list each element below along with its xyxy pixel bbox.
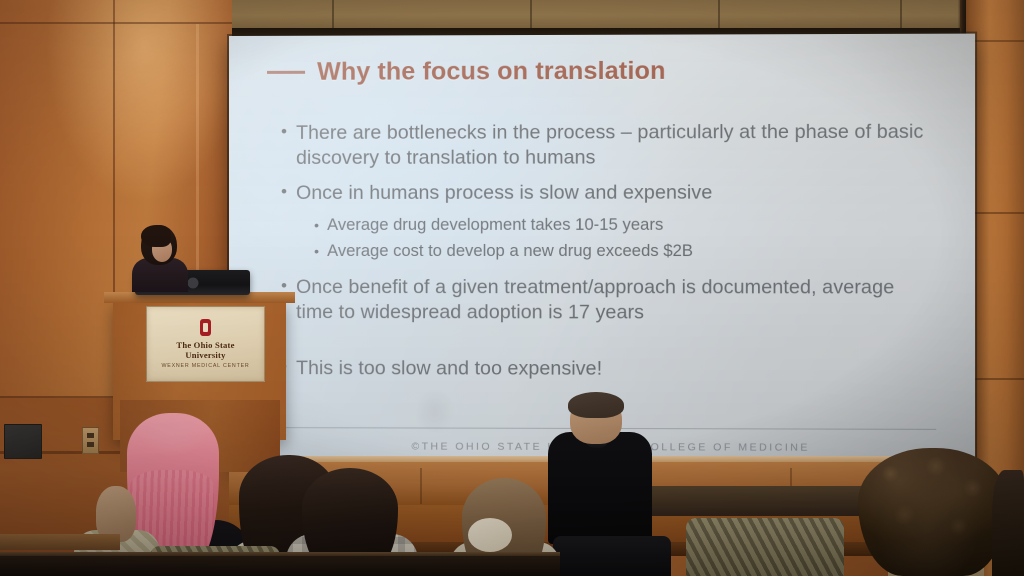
podium-sign-line2: University — [185, 350, 225, 360]
bullet-level1: • There are bottlenecks in the process –… — [281, 120, 934, 172]
dell-logo-icon — [187, 277, 198, 288]
lecture-hall-photo: Why the focus on translation • There are… — [0, 0, 1024, 576]
slide-title-row: Why the focus on translation — [267, 57, 666, 87]
left-tabletop — [0, 534, 120, 550]
bullet-dot-icon: • — [281, 121, 296, 172]
audience-black-polo-hair — [568, 392, 624, 418]
wall-speaker-panel — [4, 424, 42, 459]
stage-seam — [420, 468, 422, 504]
bullet-dot-icon: • — [281, 181, 296, 206]
bullet-text: There are bottlenecks in the process – p… — [296, 120, 934, 172]
bullet-dot-icon: • — [314, 215, 327, 237]
bullet-level2: • Average cost to develop a new drug exc… — [314, 241, 934, 263]
bench-seat — [640, 486, 880, 516]
podium-sign: The Ohio State University WEXNER MEDICAL… — [146, 306, 265, 382]
auditorium-seat-fabric — [686, 518, 844, 576]
slide-body: • There are bottlenecks in the process –… — [281, 120, 934, 392]
bullet-text: Once in humans process is slow and expen… — [296, 180, 712, 206]
title-dash-decoration — [267, 71, 305, 74]
bullet-text: Once benefit of a given treatment/approa… — [296, 275, 934, 326]
slide-spacer — [281, 334, 934, 357]
front-desk — [0, 556, 560, 576]
bullet-text: Average drug development takes 10-15 yea… — [327, 215, 663, 237]
chair-back — [553, 536, 671, 576]
bullet-level1: • Once benefit of a given treatment/appr… — [281, 275, 934, 326]
podium-sign-line1: The Ohio State — [176, 340, 234, 350]
bullet-text: This is too slow and too expensive! — [296, 356, 602, 382]
bullet-level1: • Once in humans process is slow and exp… — [281, 180, 934, 206]
audience-far-right-head — [992, 470, 1024, 576]
wall-outlet-plate — [82, 427, 99, 454]
bullet-level2: • Average drug development takes 10-15 y… — [314, 215, 934, 237]
presenter-hair — [141, 225, 171, 247]
page-title: Why the focus on translation — [317, 57, 666, 87]
audience-black-polo-body — [548, 432, 652, 544]
hair-scrunchie — [468, 518, 512, 552]
bullet-level1: • This is too slow and too expensive! — [281, 356, 934, 383]
bullet-dot-icon: • — [314, 241, 327, 263]
bullet-text: Average cost to develop a new drug excee… — [327, 241, 693, 263]
audience-curly-hair-texture — [862, 452, 1004, 572]
block-o-icon — [200, 319, 211, 336]
podium-sign-line3: WEXNER MEDICAL CENTER — [161, 363, 249, 369]
